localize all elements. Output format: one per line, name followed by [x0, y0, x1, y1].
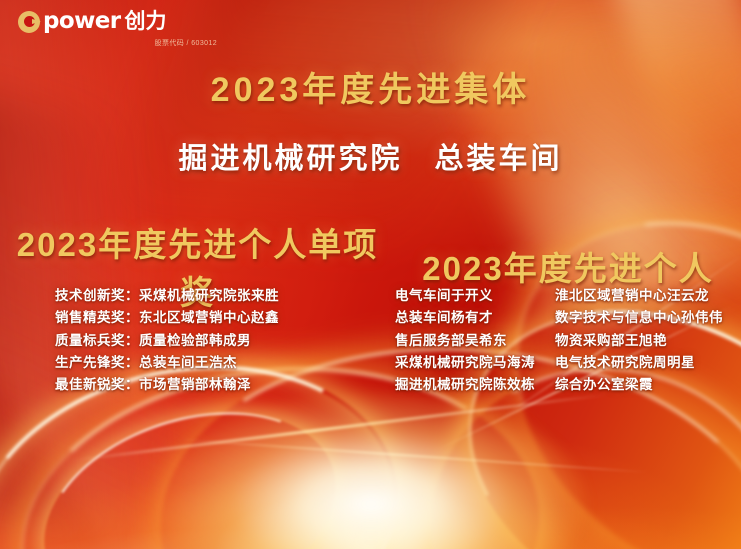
light-ribbon-decoration: [18, 377, 362, 549]
list-item: 采煤机械研究院马海涛 电气技术研究院周明星: [395, 352, 741, 374]
logo-chinese-name: 创力: [124, 11, 166, 32]
light-streak-decoration: [72, 393, 608, 462]
logo-wordmark: power: [43, 10, 120, 33]
company-logo: power 创力 股票代码 / 603012: [18, 10, 223, 48]
person-name: 数字技术与信息中心孙伟伟: [555, 307, 741, 329]
light-streak-decoration: [181, 439, 650, 474]
list-item: 掘进机械研究院陈效栋 综合办公室梁霞: [395, 374, 741, 396]
heading-advanced-individuals: 2023年度先进个人: [395, 242, 741, 290]
list-item: 总装车间杨有才 数字技术与信息中心孙伟伟: [395, 307, 741, 329]
page-subtitle: 掘进机械研究院 总装车间: [0, 135, 741, 177]
list-item: 质量标兵奖：质量检验部韩成男: [55, 330, 395, 352]
person-name: 物资采购部王旭艳: [555, 330, 741, 352]
person-name: 电气车间于开义: [395, 285, 555, 307]
award-poster: power 创力 股票代码 / 603012 2023年度先进集体 掘进机械研究…: [0, 0, 741, 549]
left-award-list: 技术创新奖：采煤机械研究院张来胜 销售精英奖：东北区域营销中心赵鑫 质量标兵奖：…: [0, 285, 395, 396]
list-item: 电气车间于开义 淮北区域营销中心汪云龙: [395, 285, 741, 307]
person-name: 采煤机械研究院马海涛: [395, 352, 555, 374]
light-core-decoration: [156, 389, 586, 549]
stock-code-label: 股票代码 / 603012: [18, 38, 223, 48]
awards-lists: 技术创新奖：采煤机械研究院张来胜 销售精英奖：东北区域营销中心赵鑫 质量标兵奖：…: [0, 285, 741, 396]
power-circle-arrow-icon: [18, 11, 40, 33]
list-item: 生产先锋奖：总装车间王浩杰: [55, 352, 395, 374]
person-name: 总装车间杨有才: [395, 307, 555, 329]
list-item: 售后服务部吴希东 物资采购部王旭艳: [395, 330, 741, 352]
logo-row: power 创力: [18, 10, 223, 33]
person-name: 售后服务部吴希东: [395, 330, 555, 352]
person-name: 电气技术研究院周明星: [555, 352, 741, 374]
list-item: 最佳新锐奖：市场营销部林翰泽: [55, 374, 395, 396]
list-item: 技术创新奖：采煤机械研究院张来胜: [55, 285, 395, 307]
person-name: 淮北区域营销中心汪云龙: [555, 285, 741, 307]
person-name: 综合办公室梁霞: [555, 374, 741, 396]
page-title: 2023年度先进集体: [0, 62, 741, 111]
right-people-list: 电气车间于开义 淮北区域营销中心汪云龙 总装车间杨有才 数字技术与信息中心孙伟伟…: [395, 285, 741, 396]
person-name: 掘进机械研究院陈效栋: [395, 374, 555, 396]
list-item: 销售精英奖：东北区域营销中心赵鑫: [55, 307, 395, 329]
